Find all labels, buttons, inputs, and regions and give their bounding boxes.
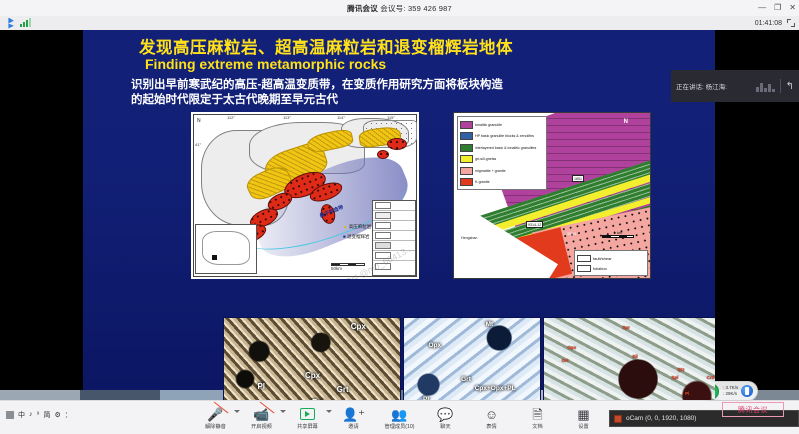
map-eclogite-zone-8: [377, 150, 389, 159]
mineral-label: Opx: [428, 342, 441, 349]
start-video-button[interactable]: 📹 开启视频: [239, 402, 285, 434]
china-inset-map: [195, 224, 257, 274]
audio-waveform-icon: [756, 81, 775, 92]
right-geological-map: N tonalitic granulite HP basic granulite…: [453, 112, 651, 279]
smiley-face-icon: ☺: [485, 406, 498, 422]
invite-person-icon: 👤⁺: [342, 406, 365, 422]
mineral-label: Crd: [707, 375, 715, 380]
slide-title-cn: 发现高压麻粒岩、超高温麻粒岩和退变榴辉岩地体: [139, 34, 679, 58]
mineral-label: Qtz: [677, 367, 684, 372]
triangle-icon: ▲: [343, 224, 347, 229]
chat-bubble-icon: 💬: [437, 406, 453, 422]
inset-location-marker: [212, 255, 217, 260]
document-icon: 🗎: [532, 406, 542, 422]
invite-button[interactable]: 👤⁺ 邀请: [331, 402, 377, 434]
mineral-label: Mt: [486, 321, 494, 328]
legend-item: interlayered basic & tonalitic granulite…: [460, 142, 544, 154]
window-title: 腾讯会议 会议号: 359 426 987: [347, 3, 452, 14]
mineral-label: Cpx: [305, 371, 320, 380]
map-eclogite-zone-7: [387, 138, 407, 150]
right-map-symbol-key: fault/shear foliation: [574, 250, 648, 276]
shared-screen-stage: 发现高压麻粒岩、超高温麻粒岩和退变榴辉岩地体 Finding extreme m…: [0, 30, 799, 400]
legend-item: grt-sill-gneiss: [460, 154, 544, 166]
china-outline: [202, 231, 250, 265]
active-speaker-indicator: 正在讲话: 杨江海: ↰: [671, 70, 799, 102]
signal-bars-icon: [20, 19, 31, 27]
manage-members-icon: 👥: [391, 406, 407, 422]
legend-item: tonalitic granulite: [460, 119, 544, 131]
slide-body-line-1: 识别出早前寒武纪的高压-超高温变质带，在变质作用研究方面将板块构造: [131, 78, 691, 93]
divider: [780, 79, 781, 93]
legend-retro-eclogite: ■ 退变榴辉岩: [343, 234, 369, 240]
fault-shear-icon: [577, 255, 591, 262]
window-titlebar: 腾讯会议 会议号: 359 426 987 — ❐ ✕: [0, 0, 799, 16]
window-buttons: — ❐ ✕: [758, 0, 796, 16]
right-map-north-arrow: N: [624, 119, 628, 125]
network-rates: ↑ 3.7K/s ↓ 29K/s: [722, 385, 738, 398]
elapsed-timer: 01:41:08: [755, 20, 782, 27]
lon-tick-1: 112°: [227, 115, 235, 120]
right-map-legend: tonalitic granulite HP basic granulite b…: [457, 116, 547, 190]
lon-tick-2: 113°: [283, 115, 291, 120]
scale-bar-graphic: [602, 235, 634, 238]
meeting-id-label: 会议号:: [380, 4, 405, 13]
mineral-label: Pl: [257, 382, 265, 391]
swatch-icon: [460, 121, 473, 129]
legend-item: K-granite: [460, 177, 544, 189]
tencent-meeting-window: 腾讯会议 会议号: 359 426 987 — ❐ ✕ 01:41:08 发现高…: [0, 0, 799, 434]
collapse-arrow-icon[interactable]: ↰: [786, 81, 794, 92]
mineral-label: Sil: [632, 354, 638, 359]
left-tectonic-map: N 112° 113° 114° 115° 41°: [191, 112, 419, 279]
ime-item[interactable]: 中: [18, 410, 25, 420]
speaking-label: 正在讲话: 杨江海:: [676, 81, 727, 91]
share-screen-icon: [300, 406, 315, 422]
participant-tile[interactable]: [80, 390, 160, 400]
symbol-item: foliation: [577, 263, 645, 273]
settings-button[interactable]: ▦ 设置: [561, 402, 607, 434]
slide-body-text: 识别出早前寒武纪的高压-超高温变质带，在变质作用研究方面将板块构造 的起始时代限…: [131, 78, 691, 108]
presentation-slide: 发现高压麻粒岩、超高温麻粒岩和退变榴辉岩地体 Finding extreme m…: [83, 30, 715, 400]
app-name: 腾讯会议: [347, 4, 378, 13]
mineral-label: Grt: [562, 358, 569, 363]
maximize-button[interactable]: ❐: [774, 4, 781, 12]
square-icon: ■: [343, 234, 346, 239]
mineral-label: Grt: [461, 376, 471, 383]
mineral-label: Rut: [312, 398, 325, 400]
emoji-button[interactable]: ☺ 表情: [469, 402, 515, 434]
chat-button[interactable]: 💬 聊天: [423, 402, 469, 434]
meeting-id-value: 359 426 987: [408, 4, 452, 13]
legend-row: [373, 231, 415, 241]
bluetooth-icon: [4, 18, 15, 29]
grid-apps-icon: ▦: [577, 406, 589, 422]
legend-row: [373, 221, 415, 231]
photomicrograph-1: Cpx Cpx Grt Rut Pl Amp Cpx+Opx: [223, 317, 401, 400]
swatch-icon: [460, 167, 473, 175]
minimize-button[interactable]: —: [758, 4, 766, 12]
lat-tick: 41°: [195, 142, 201, 147]
swatch-icon: [460, 155, 473, 163]
legend-row: [373, 211, 415, 221]
ocam-window-title: oCam (0, 0, 1920, 1080): [626, 415, 696, 422]
sample-tag: 39/13: [566, 231, 577, 236]
sample-tag: 9314-12: [526, 221, 543, 228]
ime-language-bar[interactable]: 中 ♪ ⁹ 简 ⚙ ：: [2, 406, 76, 423]
manage-members-label: 管理成员(10): [385, 423, 415, 430]
camera-muted-icon: 📹: [253, 406, 269, 422]
photomicrograph-2: Mt Opx Grt Cpx+Opx+PL Pl: [403, 317, 541, 400]
share-screen-button[interactable]: 共享屏幕: [285, 402, 331, 434]
region-label: Hengshan: [460, 235, 478, 240]
mineral-label: Opx: [568, 345, 577, 350]
mineral-label: Spr: [622, 325, 630, 330]
ocam-app-icon: [614, 415, 622, 423]
ime-item[interactable]: 简: [44, 410, 51, 420]
photomicrograph-3: Spr Opx Sil Grt Qtz Spl Crd Pl Bt Sil Kf…: [543, 317, 715, 400]
fullscreen-icon[interactable]: [787, 19, 795, 27]
legend-item: HP basic granulite blocks & xenoliths: [460, 131, 544, 143]
download-rate: ↓ 29K/s: [722, 391, 738, 398]
legend-item: migmatite + granite: [460, 165, 544, 177]
swatch-icon: [460, 144, 473, 152]
mineral-label: Grt: [337, 385, 349, 394]
mineral-label: Spl: [671, 375, 678, 380]
mineral-label: Cpx+Opx+PL: [475, 385, 516, 392]
meeting-timer-group: 01:41:08: [755, 16, 795, 30]
unmute-button[interactable]: 🎤 解除静音: [193, 402, 239, 434]
mineral-label: Cpx: [351, 322, 366, 331]
legend-hp-granulite: ▲ 高压麻粒岩: [343, 224, 371, 230]
right-map-scale: 1 km: [602, 230, 634, 238]
north-arrow-label: N: [197, 118, 201, 124]
close-button[interactable]: ✕: [789, 4, 796, 12]
ime-item: ：: [65, 410, 72, 420]
microphone-muted-icon: 🎤: [207, 406, 223, 422]
legend-row: [373, 201, 415, 211]
ime-item[interactable]: ♪: [29, 411, 33, 418]
browser-logo-icon[interactable]: [741, 385, 753, 397]
meeting-status-bar: [0, 16, 799, 30]
sample-tag: 1851: [572, 175, 584, 182]
foliation-icon: [577, 265, 591, 272]
slide-body-line-2: 的起始时代限定于太古代晚期至早元古代: [131, 93, 691, 108]
swatch-icon: [460, 132, 473, 140]
participant-tile[interactable]: [0, 390, 80, 400]
document-button[interactable]: 🗎 文档: [515, 402, 561, 434]
mineral-label: Pl: [685, 391, 689, 396]
manage-members-button[interactable]: 👥 管理成员(10): [377, 402, 423, 434]
swatch-icon: [460, 178, 473, 186]
slide-title-en: Finding extreme metamorphic rocks: [145, 56, 386, 72]
mineral-label: Pl: [423, 396, 429, 400]
tencent-meeting-watermark: 腾讯会议: [722, 402, 784, 417]
lon-tick-3: 114°: [337, 115, 345, 120]
ime-item[interactable]: ⁹: [37, 411, 40, 418]
ime-settings-icon[interactable]: ⚙: [55, 411, 61, 419]
symbol-item: fault/shear: [577, 253, 645, 263]
ime-mode-icon[interactable]: [6, 411, 14, 419]
